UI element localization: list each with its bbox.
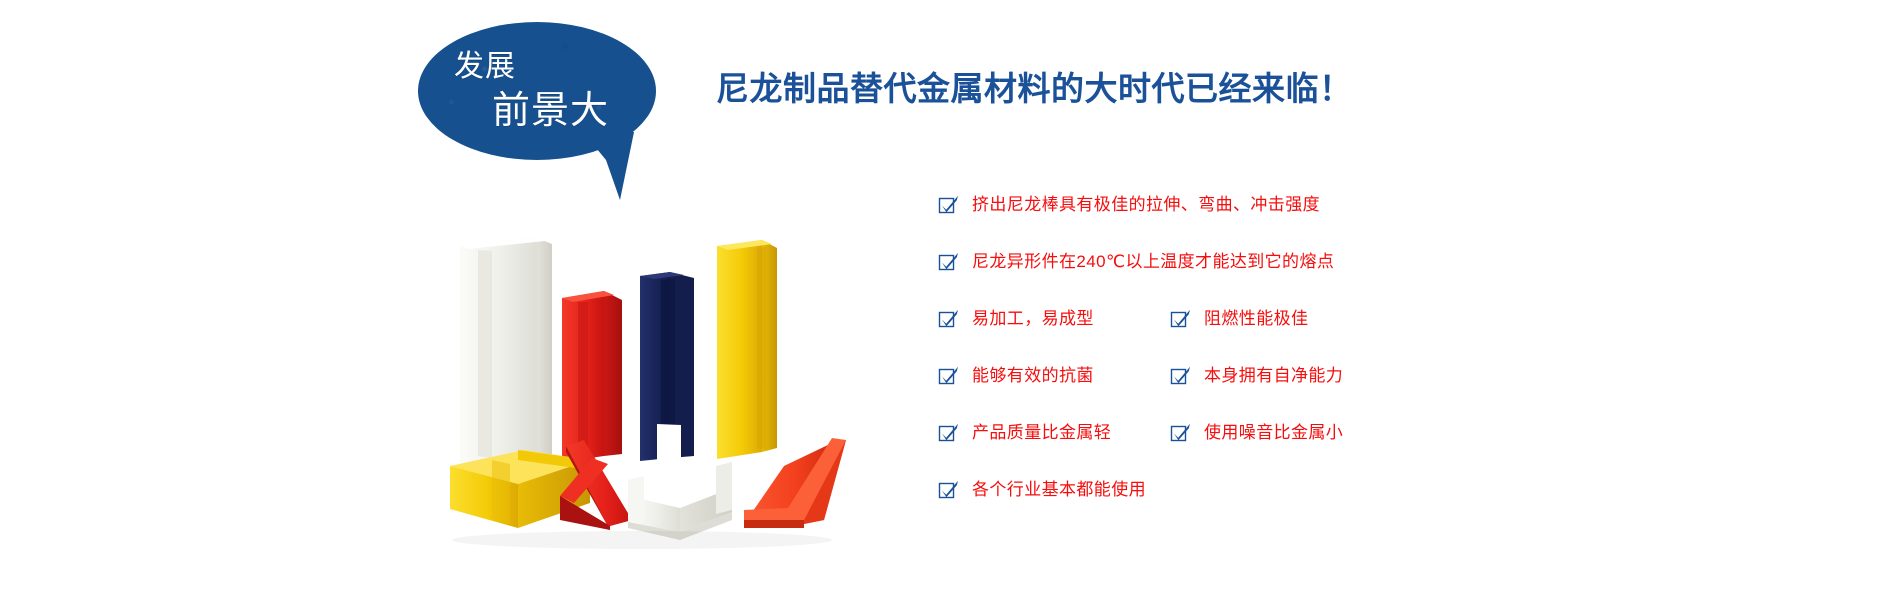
check-box-icon <box>1170 422 1191 443</box>
nylon-profiles-illustration <box>432 228 852 553</box>
check-box-icon <box>938 479 959 500</box>
bubble-line-1: 发展 <box>454 52 516 82</box>
check-box-icon <box>938 365 959 386</box>
feature-item: 本身拥有自净能力 <box>1170 359 1343 391</box>
page-title: 尼龙制品替代金属材料的大时代已经来临！ <box>716 62 1353 110</box>
feature-label: 本身拥有自净能力 <box>1204 367 1343 384</box>
feature-item: 阻燃性能极佳 <box>1170 302 1308 334</box>
speech-bubble-text: 发展 前景大 <box>418 22 656 160</box>
check-box-icon <box>938 308 959 329</box>
feature-item: 易加工，易成型 <box>938 302 1094 334</box>
feature-label: 尼龙异形件在240℃以上温度才能达到它的熔点 <box>972 253 1334 270</box>
feature-row: 能够有效的抗菌 本身拥有自净能力 <box>938 359 1638 416</box>
feature-row: 产品质量比金属轻 使用噪音比金属小 <box>938 416 1638 473</box>
feature-label: 各个行业基本都能使用 <box>972 481 1146 498</box>
feature-item: 产品质量比金属轻 <box>938 416 1111 448</box>
check-box-icon <box>938 422 959 443</box>
promo-banner: 发展 前景大 尼龙制品替代金属材料的大时代已经来临！ <box>0 0 1902 592</box>
feature-row: 尼龙异形件在240℃以上温度才能达到它的熔点 <box>938 245 1638 302</box>
feature-item: 各个行业基本都能使用 <box>938 473 1146 505</box>
feature-row: 各个行业基本都能使用 <box>938 473 1638 530</box>
product-photo <box>432 228 852 553</box>
feature-label: 能够有效的抗菌 <box>972 367 1094 384</box>
feature-label: 挤出尼龙棒具有极佳的拉伸、弯曲、冲击强度 <box>972 196 1320 213</box>
bubble-line-2: 前景大 <box>492 92 609 130</box>
feature-item: 尼龙异形件在240℃以上温度才能达到它的熔点 <box>938 245 1334 277</box>
speech-bubble: 发展 前景大 <box>418 22 658 192</box>
check-box-icon <box>1170 365 1191 386</box>
check-box-icon <box>938 194 959 215</box>
feature-item: 使用噪音比金属小 <box>1170 416 1343 448</box>
feature-row: 易加工，易成型 阻燃性能极佳 <box>938 302 1638 359</box>
feature-item: 能够有效的抗菌 <box>938 359 1094 391</box>
feature-label: 易加工，易成型 <box>972 310 1094 327</box>
feature-list: 挤出尼龙棒具有极佳的拉伸、弯曲、冲击强度 尼龙异形件在240℃以上温度才能达到它… <box>938 188 1638 530</box>
check-box-icon <box>1170 308 1191 329</box>
feature-label: 产品质量比金属轻 <box>972 424 1111 441</box>
feature-item: 挤出尼龙棒具有极佳的拉伸、弯曲、冲击强度 <box>938 188 1320 220</box>
check-box-icon <box>938 251 959 272</box>
feature-label: 使用噪音比金属小 <box>1204 424 1343 441</box>
feature-row: 挤出尼龙棒具有极佳的拉伸、弯曲、冲击强度 <box>938 188 1638 245</box>
feature-label: 阻燃性能极佳 <box>1204 310 1308 327</box>
